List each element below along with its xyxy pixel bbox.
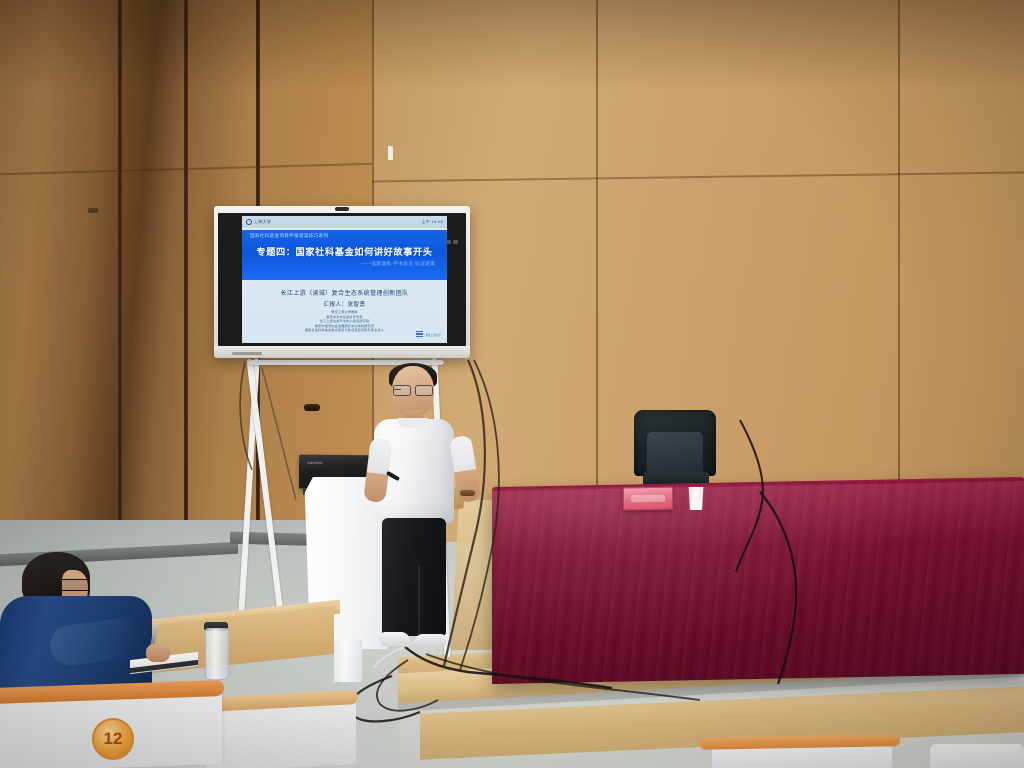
display-bezel: 上海大学 上午 10:26 国家社科基金项目申报提案技巧系列 专题四：国家社科基… [218, 213, 466, 346]
auditorium-seat-back [930, 744, 1024, 768]
toolbar-left-group: 上海大学 [246, 219, 271, 225]
wall-groove [118, 0, 122, 555]
logo-bars-icon [416, 331, 423, 338]
head-table-chair[interactable] [634, 410, 716, 492]
wall-seam [596, 0, 598, 540]
slide-footer-logo: 重庆工商大学 [416, 331, 441, 338]
presenter-pants [382, 518, 446, 636]
wall-marker [388, 146, 393, 160]
toolbar-right-label: 上午 10:26 [421, 219, 443, 225]
slide-footer-mark: 重庆工商大学 [425, 334, 441, 337]
record-dot-icon [246, 219, 252, 225]
display-control-buttons[interactable] [446, 231, 460, 241]
glasses-bridge [393, 389, 401, 390]
slide-team-line: 长江上游（渝城）复合生态系统管理创新团队 [242, 288, 447, 297]
seated-attendee [0, 552, 190, 702]
wall-groove [184, 0, 188, 555]
attendee-hand [146, 644, 170, 662]
wall-seam [898, 0, 900, 520]
paper-cup [688, 487, 704, 510]
wristwatch [460, 490, 475, 496]
display-brand-logo [232, 352, 262, 355]
seat-number-badge: 12 [92, 718, 134, 760]
display-screen[interactable]: 上海大学 上午 10:26 国家社科基金项目申报提案技巧系列 专题四：国家社科基… [242, 216, 447, 343]
camera-icon [335, 207, 349, 211]
slide-app-toolbar[interactable]: 上海大学 上午 10:26 [242, 216, 447, 228]
slide-kicker: 国家社科基金项目申报提案技巧系列 [250, 233, 328, 239]
slide-canvas: 上海大学 上午 10:26 国家社科基金项目申报提案技巧系列 专题四：国家社科基… [242, 216, 447, 343]
wall-outlet-icon [88, 208, 98, 213]
laptop-brand-label: Lenovo [307, 460, 322, 465]
presenter-shoe-right [414, 634, 446, 648]
presenter [366, 366, 476, 676]
wall-outlet-icon [304, 404, 320, 411]
slide-title-banner: 国家社科基金项目申报提案技巧系列 专题四：国家社科基金如何讲好故事开头 ——选题… [242, 230, 447, 280]
glasses-icon [58, 579, 90, 591]
presentation-display[interactable]: 上海大学 上午 10:26 国家社科基金项目申报提案技巧系列 专题四：国家社科基… [214, 206, 470, 358]
pants-seam [418, 566, 420, 636]
head-table-cloth [492, 479, 1024, 684]
slide-subtitle: ——选题凝练·学术前沿·论证逻辑 [361, 261, 435, 267]
lectern-base-post [334, 640, 362, 682]
toolbar-left-label: 上海大学 [254, 219, 271, 225]
presenter-collar [398, 418, 428, 428]
lecture-hall-photo: 上海大学 上午 10:26 国家社科基金项目申报提案技巧系列 专题四：国家社科基… [0, 0, 1024, 768]
slide-presenter-line: 汇报人：张智勇 [242, 300, 447, 308]
water-bottle [205, 628, 229, 680]
name-card [623, 487, 673, 511]
slide-title: 专题四：国家社科基金如何讲好故事开头 [242, 244, 447, 258]
presenter-shoe-left [380, 632, 410, 646]
